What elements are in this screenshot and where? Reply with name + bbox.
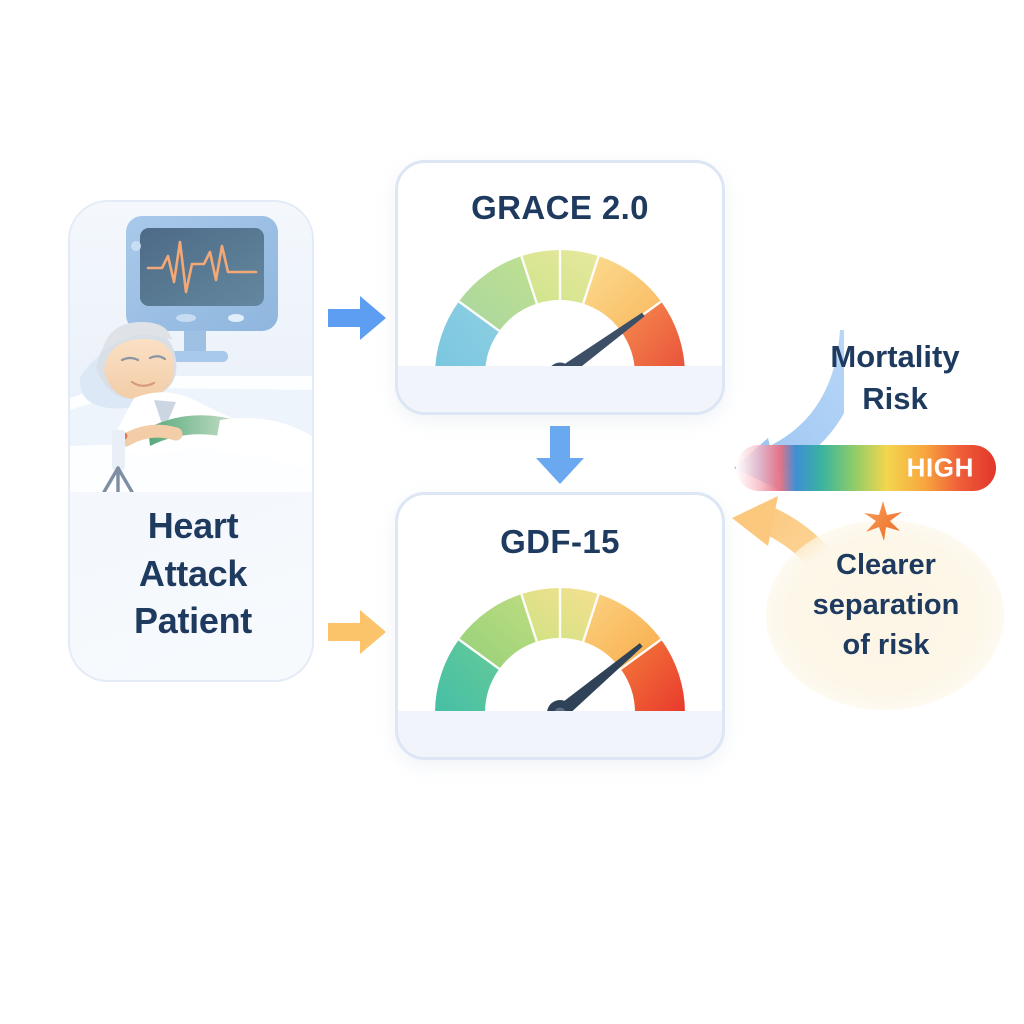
- callout-text: Clearer separation of risk: [768, 545, 1004, 665]
- patient-label-line-1: Heart: [70, 502, 314, 550]
- patient-label-line-3: Patient: [70, 597, 314, 645]
- patient-illustration: [70, 202, 314, 492]
- diagram-canvas: Heart Attack Patient GRACE 2.0: [0, 0, 1024, 1024]
- gdf15-card-footer: [398, 711, 722, 757]
- arrow-grace-to-gdf15-icon: [532, 424, 588, 486]
- mortality-risk-heading: Mortality Risk: [790, 336, 1000, 420]
- patient-label-line-2: Attack: [70, 550, 314, 598]
- gdf15-card-title: GDF-15: [398, 523, 722, 561]
- risk-level-bar[interactable]: HIGH: [736, 445, 996, 491]
- arrow-patient-to-gdf15-icon: [326, 606, 388, 658]
- grace-card-title: GRACE 2.0: [398, 189, 722, 227]
- gdf15-gauge: [417, 573, 703, 723]
- risk-level-badge: HIGH: [907, 453, 974, 484]
- grace-card-footer: [398, 366, 722, 412]
- mortality-risk-line-1: Mortality: [790, 336, 1000, 378]
- arrow-patient-to-grace-icon: [326, 292, 388, 344]
- grace-gauge: [417, 235, 703, 385]
- grace-score-card[interactable]: GRACE 2.0: [395, 160, 725, 415]
- patient-card: Heart Attack Patient: [68, 200, 314, 682]
- gdf15-score-card[interactable]: GDF-15: [395, 492, 725, 760]
- patient-card-label: Heart Attack Patient: [70, 502, 314, 645]
- callout-line-3: of risk: [768, 625, 1004, 665]
- callout-line-1: Clearer: [768, 545, 1004, 585]
- callout-line-2: separation: [768, 585, 1004, 625]
- starburst-icon: [862, 500, 904, 542]
- mortality-risk-line-2: Risk: [790, 378, 1000, 420]
